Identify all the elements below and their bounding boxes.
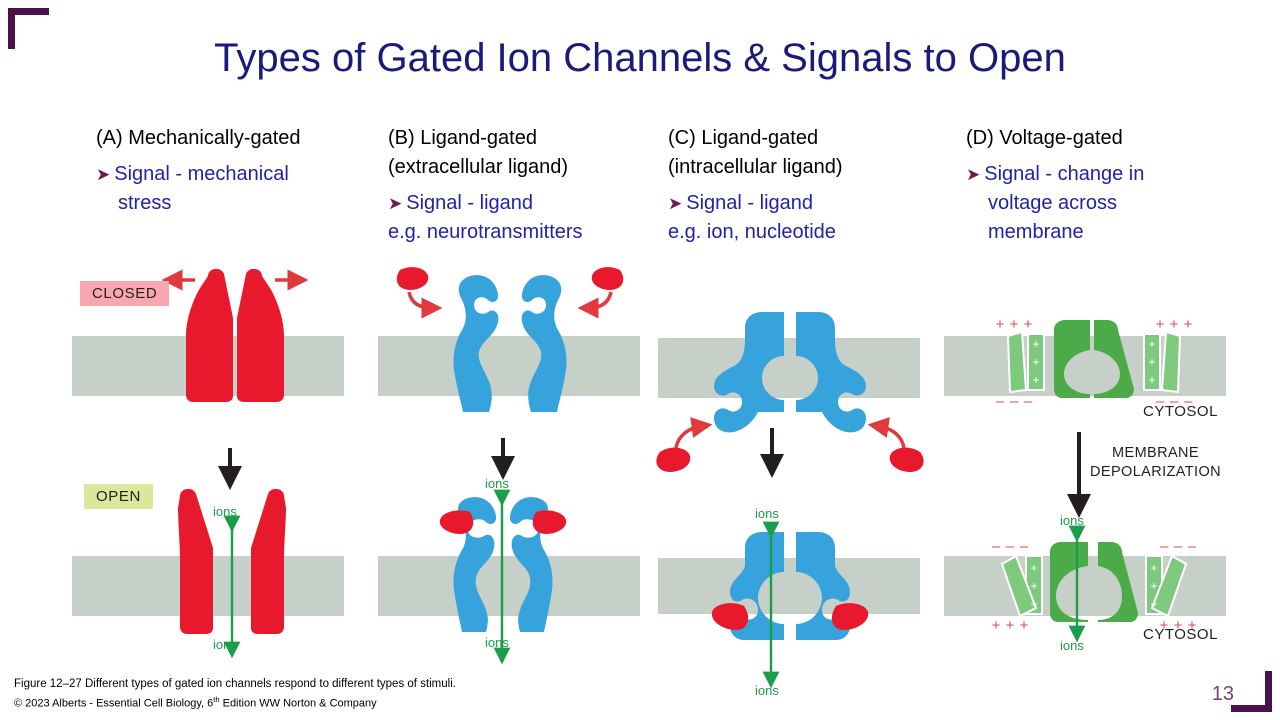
svg-text:–: – (1006, 538, 1015, 555)
bullet-arrow-icon: ➤ (668, 194, 682, 213)
channel-a-closed-left-subunit (186, 269, 233, 402)
footer-copyright-pre: © 2023 Alberts - Essential Cell Biology,… (14, 698, 213, 710)
footer-copyright-post: Edition WW Norton & Company (220, 698, 377, 710)
ion-label-a-bottom: ions (213, 637, 237, 652)
membrane-c-closed (658, 338, 920, 398)
voltage-sensor-d-closed-inner-left (1028, 334, 1044, 390)
bound-ligand-b-left (440, 510, 473, 534)
svg-text:+: + (1020, 617, 1029, 634)
channel-c-closed-left-subunit (714, 312, 784, 432)
column-c-bullet-line2: e.g. ion, nucleotide (668, 218, 948, 247)
svg-text:+: + (1030, 597, 1037, 611)
bound-ligand-b-right (533, 510, 566, 534)
channel-c-open (712, 532, 868, 640)
panel-c-ligand-gated-intracellular (656, 312, 923, 680)
svg-text:+: + (992, 617, 1001, 634)
footer-credit: Figure 12–27 Different types of gated io… (14, 677, 456, 712)
svg-text:+: + (1148, 373, 1155, 387)
channel-c-closed-right-subunit (796, 312, 866, 432)
ion-label-d-top: ions (1060, 513, 1084, 528)
ligand-binding-arrow-c-left (676, 426, 702, 448)
ion-label-a-top: ions (213, 504, 237, 519)
svg-text:+: + (1006, 617, 1015, 634)
ion-label-c-top: ions (755, 506, 779, 521)
svg-text:+: + (996, 316, 1005, 333)
channel-b-closed-right-subunit (522, 275, 567, 412)
ligand-binding-arrow-b-left (409, 292, 432, 308)
ligands-b-closed (397, 267, 624, 308)
column-a-title: (A) Mechanically-gated (96, 124, 366, 153)
membrane-a-open (72, 556, 344, 616)
svg-text:+: + (1024, 316, 1033, 333)
bullet-arrow-icon: ➤ (96, 165, 110, 184)
channel-d-open: +++ +++ ––– ––– +++ +++ (992, 538, 1197, 634)
membrane-charges-d-open: ––– ––– +++ +++ (992, 538, 1197, 634)
status-badge-closed: CLOSED (80, 281, 169, 306)
depolarization-line2: DEPOLARIZATION (1090, 463, 1221, 482)
ligand-binding-arrow-b-right (588, 292, 611, 308)
column-d-title: (D) Voltage-gated (966, 124, 1226, 153)
svg-text:–: – (1020, 538, 1029, 555)
ligand-b-right (592, 267, 624, 290)
footer-copyright: © 2023 Alberts - Essential Cell Biology,… (14, 692, 456, 712)
channel-b-closed (453, 275, 566, 412)
ion-label-b-top: ions (485, 476, 509, 491)
ligands-c-closed (656, 426, 923, 472)
column-b-bullet-line2: e.g. neurotransmitters (388, 218, 668, 247)
column-header-c: (C) Ligand-gated (intracellular ligand) … (668, 124, 948, 247)
svg-text:+: + (1032, 337, 1039, 351)
column-header-b: (B) Ligand-gated (extracellular ligand) … (388, 124, 668, 247)
svg-text:+: + (1030, 561, 1037, 575)
corner-bracket-bottom-right (1231, 671, 1272, 712)
voltage-sensor-d-open-inner-right (1146, 556, 1162, 614)
channel-d-closed-left-pore (1054, 320, 1090, 398)
channel-d-closed: +++ +++ +++ +++ ––– ––– (996, 316, 1193, 410)
bound-ligand-c-right (832, 603, 868, 630)
svg-text:+: + (1148, 337, 1155, 351)
column-header-d: (D) Voltage-gated ➤Signal - change in vo… (966, 124, 1226, 247)
ion-channel-figure: +++ +++ +++ +++ ––– ––– (0, 0, 1280, 720)
svg-text:+: + (1030, 579, 1037, 593)
membrane-b-closed (378, 336, 640, 396)
bullet-arrow-icon: ➤ (966, 165, 980, 184)
cytosol-label-closed: CYTOSOL (1143, 403, 1218, 420)
column-b-subtitle: (extracellular ligand) (388, 153, 668, 182)
svg-text:+: + (1150, 597, 1157, 611)
svg-text:–: – (1188, 538, 1197, 555)
ion-label-c-bottom: ions (755, 683, 779, 698)
ligand-binding-arrow-c-right (878, 426, 904, 448)
depolarization-line1: MEMBRANE (1090, 444, 1221, 463)
svg-text:–: – (996, 393, 1005, 410)
column-d-bullet-line2: voltage across (966, 189, 1226, 218)
voltage-sensor-d-open-outer-left (1002, 556, 1036, 616)
column-d-bullet-line3: membrane (966, 218, 1226, 247)
slide-number: 13 (1212, 683, 1234, 706)
column-header-a: (A) Mechanically-gated ➤Signal - mechani… (96, 124, 366, 218)
svg-text:+: + (1148, 355, 1155, 369)
panel-b-ligand-gated-extracellular (397, 267, 624, 656)
column-c-bullet-line1: Signal - ligand (686, 192, 813, 214)
channel-a-closed (186, 269, 284, 402)
svg-text:+: + (1156, 316, 1165, 333)
column-b-title: (B) Ligand-gated (388, 124, 668, 153)
column-d-bullet: ➤Signal - change in (966, 160, 1226, 189)
ion-label-d-bottom: ions (1060, 638, 1084, 653)
voltage-sensor-d-closed-inner-right (1144, 334, 1160, 390)
svg-text:+: + (1184, 316, 1193, 333)
svg-text:–: – (1174, 538, 1183, 555)
channel-b-closed-left-subunit (453, 275, 498, 412)
voltage-sensor-d-closed-outer-left (1008, 332, 1026, 392)
membrane-a-closed (72, 336, 344, 396)
cytosol-label-open: CYTOSOL (1143, 626, 1218, 643)
channel-b-open (440, 497, 566, 632)
membrane-charges-d-closed: +++ +++ ––– ––– (996, 316, 1193, 410)
bound-ligand-c-left (712, 603, 748, 630)
ligand-b-left (397, 267, 429, 290)
svg-text:–: – (1010, 393, 1019, 410)
page-title: Types of Gated Ion Channels & Signals to… (0, 36, 1280, 81)
svg-text:+: + (1150, 561, 1157, 575)
svg-text:+: + (1032, 373, 1039, 387)
sensor-charges-d-open: +++ +++ (1030, 561, 1157, 611)
svg-text:–: – (1024, 393, 1033, 410)
channel-c-closed (714, 312, 866, 432)
voltage-sensor-d-open-outer-right (1152, 556, 1186, 616)
channel-c-open-right-subunit (796, 532, 850, 640)
channel-d-open-left-pore (1050, 542, 1088, 622)
column-a-bullet: ➤Signal - mechanical (96, 160, 366, 189)
ligand-c-left (656, 448, 690, 472)
membrane-c-open (658, 558, 920, 614)
column-b-bullet-line1: Signal - ligand (406, 192, 533, 214)
membrane-d-open (944, 556, 1226, 616)
svg-text:–: – (1160, 538, 1169, 555)
sensor-charges-d-closed: +++ +++ (1032, 337, 1155, 387)
ligand-c-right (890, 448, 924, 472)
bullet-arrow-icon: ➤ (388, 194, 402, 213)
channel-d-open-right-pore (1098, 542, 1138, 622)
membrane-d-closed (944, 336, 1226, 396)
column-a-bullet-line2: stress (96, 189, 366, 218)
column-b-bullet: ➤Signal - ligand (388, 189, 668, 218)
svg-text:–: – (992, 538, 1001, 555)
svg-text:+: + (1150, 579, 1157, 593)
channel-c-open-left-subunit (730, 532, 784, 640)
column-c-title: (C) Ligand-gated (668, 124, 948, 153)
column-a-bullet-line1: Signal - mechanical (114, 163, 289, 185)
membrane-depolarization-label: MEMBRANE DEPOLARIZATION (1090, 444, 1221, 482)
column-c-subtitle: (intracellular ligand) (668, 153, 948, 182)
footer-figure-caption: Figure 12–27 Different types of gated io… (14, 677, 456, 692)
voltage-sensor-d-closed-outer-right (1162, 332, 1180, 392)
status-badge-open: OPEN (84, 484, 153, 509)
panel-a-mechanically-gated (172, 269, 298, 650)
column-d-bullet-line1: Signal - change in (984, 163, 1144, 185)
ion-label-b-bottom: ions (485, 635, 509, 650)
voltage-sensor-d-open-inner-left (1026, 556, 1042, 614)
channel-a-closed-right-subunit (237, 269, 284, 402)
membrane-bars (72, 336, 1226, 616)
membrane-b-open (378, 556, 640, 616)
channel-b-open-right-subunit (510, 497, 553, 632)
channel-a-open-left-subunit (178, 489, 213, 634)
svg-text:+: + (1032, 355, 1039, 369)
channel-d-closed-right-pore (1094, 320, 1134, 398)
channel-b-open-left-subunit (453, 497, 496, 632)
svg-text:+: + (1010, 316, 1019, 333)
slide-root: 13 Types of Gated Ion Channels & Signals… (0, 0, 1280, 720)
channel-a-open-right-subunit (251, 489, 286, 634)
column-c-bullet: ➤Signal - ligand (668, 189, 948, 218)
svg-text:+: + (1170, 316, 1179, 333)
